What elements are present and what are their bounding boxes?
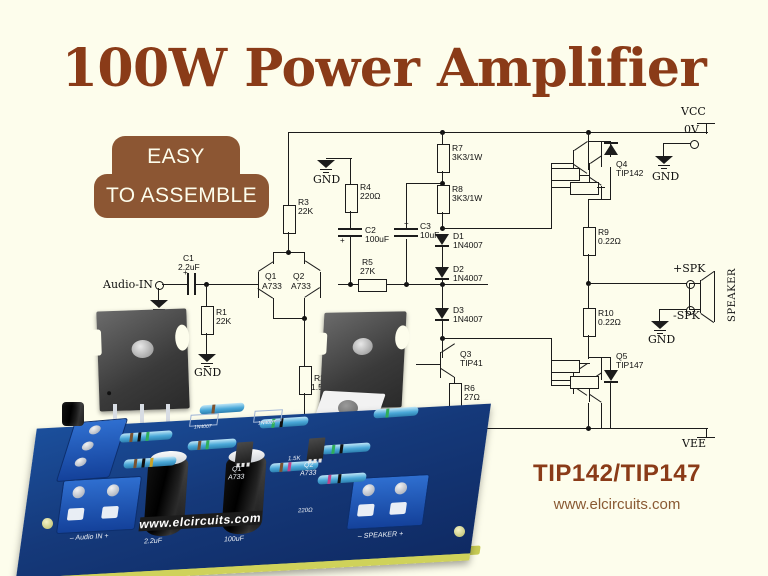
label-r7-value: 3K3/1W — [452, 153, 482, 163]
q5-diode-tie — [601, 357, 611, 358]
q5-diode-bot-wire — [610, 383, 611, 428]
terminal-spk-plus[interactable] — [686, 280, 695, 289]
pcb-silk-c2: 100uF — [223, 535, 244, 543]
q4-internal-resistor-2 — [570, 182, 599, 195]
wire-vcc-rail — [288, 132, 708, 133]
wire-output-to-spk — [588, 283, 689, 284]
q5b-emitter-lead — [589, 394, 601, 403]
wire-r10-bot — [588, 335, 589, 359]
q5-internal-resistor-2 — [570, 376, 599, 389]
q5-collector-tie — [588, 357, 602, 358]
wire-r4-top — [350, 158, 351, 184]
wire-q4-to-r9 — [588, 199, 589, 227]
wire-driver-base — [551, 163, 573, 164]
pcb-silk-q2-part: A733 — [299, 470, 316, 478]
pcb-silk-q1-part: A733 — [227, 474, 244, 482]
ground-bar-r4-2 — [320, 169, 332, 170]
wire-d1-d2 — [442, 247, 443, 267]
q5b-emitter-wire — [601, 403, 602, 428]
pcb-silk-c1: 2.2uF — [143, 538, 162, 546]
label-spk-minus: -SPK — [673, 310, 700, 322]
q2-emitter-wire — [304, 298, 305, 318]
ground-symbol-r4 — [317, 160, 335, 168]
label-r10-value: 0.22Ω — [598, 318, 621, 328]
label-q1-value: A733 — [262, 282, 282, 292]
resistor-r8 — [437, 185, 450, 214]
wire-r1-bot — [206, 333, 207, 354]
q2-collector-lead — [305, 260, 321, 271]
wire-r3-bot — [288, 232, 289, 252]
q4-collector-tie — [588, 141, 602, 142]
pcb-silk-q2: Q2 — [303, 462, 313, 470]
label-gnd-r1: GND — [194, 367, 221, 379]
ground-bar-spk-2 — [654, 330, 666, 331]
ground-symbol-spk — [651, 321, 669, 329]
label-d1-value: 1N4007 — [453, 241, 483, 251]
wire-d2-d3 — [442, 280, 443, 308]
poster-root: 100W Power Amplifier EASY TO ASSEMBLE VC… — [0, 0, 768, 576]
resistor-r9 — [583, 227, 596, 256]
pcb-mount-hole-right — [454, 526, 465, 537]
wire-q5-to-vee — [588, 403, 589, 428]
q4-diode-top-wire — [610, 141, 611, 157]
label-vee: VEE — [682, 438, 706, 450]
wire-output-to-r10 — [588, 283, 589, 308]
terminal-0v[interactable] — [690, 140, 699, 149]
resistor-r3 — [283, 205, 296, 234]
speaker-cone-bottom — [700, 313, 714, 323]
label-gnd-r4: GND — [313, 174, 340, 186]
q5b-collector-wire — [601, 357, 602, 380]
label-r9-value: 0.22Ω — [598, 237, 621, 247]
q3-emitter-lead — [440, 368, 454, 378]
label-r4-value: 220Ω — [360, 192, 381, 202]
transistor-right-notch-a — [316, 333, 327, 355]
wire-r2-top — [304, 318, 305, 366]
wire-spk-gnd — [659, 309, 687, 310]
resistor-r4 — [345, 184, 358, 213]
resistor-r7 — [437, 144, 450, 173]
q1-base-bar — [258, 272, 259, 298]
ground-symbol-audio — [150, 300, 168, 308]
wire-spk-gnd-down — [659, 309, 660, 321]
wire-r8-to-driver — [442, 228, 552, 229]
footer-website: www.elcircuits.com — [472, 496, 762, 513]
transistor-left-mount-hole — [131, 340, 154, 359]
capacitor-c3 — [394, 228, 418, 238]
q4-res2-right — [597, 187, 605, 188]
wire-c2-bot — [350, 237, 351, 284]
ground-bar-0v-2 — [658, 165, 670, 166]
label-c1-value: 2.2uF — [178, 263, 200, 273]
pcb-photo: – Audio IN + – SPEAKER + 2.2uF 100uF — [22, 398, 492, 576]
ground-bar-r1-2 — [201, 363, 213, 364]
capacitor-c1 — [187, 273, 196, 295]
q2-collector-wire — [304, 252, 305, 264]
q2-base-bar — [320, 272, 321, 298]
q5-res-tie — [551, 365, 552, 381]
transistor-package-left — [96, 308, 189, 411]
label-speaker: SPEAKER — [727, 268, 738, 322]
pcb-transistor-q1 — [235, 441, 254, 464]
label-d2-value: 1N4007 — [453, 274, 483, 284]
pcb-silk-q1: Q1 — [231, 466, 241, 474]
label-q2-value: A733 — [291, 282, 311, 292]
ground-symbol-0v — [655, 156, 673, 164]
q1-emitter-wire — [273, 298, 274, 318]
pcb-silk-d1-part: 1N4007 — [194, 424, 213, 431]
label-audio-in: Audio-IN — [103, 279, 153, 291]
q4-res-tie — [551, 173, 552, 188]
label-q4-value: TIP142 — [616, 169, 643, 179]
footer-part-numbers: TIP142/TIP147 — [472, 460, 762, 488]
q1-collector-wire — [273, 252, 274, 264]
label-q3-value: TIP41 — [460, 359, 483, 369]
resistor-r5 — [358, 279, 387, 292]
q3-base-wire — [416, 364, 441, 365]
speaker-box-left — [689, 284, 690, 309]
wire-audio-gnd — [158, 288, 159, 300]
label-d3-value: 1N4007 — [453, 315, 483, 325]
speaker-box-bottom — [689, 309, 701, 310]
resistor-r10 — [583, 308, 596, 337]
pcb-terminal-audio-in[interactable] — [56, 476, 142, 534]
wire-q1q2-bottom — [273, 318, 305, 319]
label-spk-plus: +SPK — [673, 263, 705, 275]
q4b-collector-wire — [601, 141, 602, 167]
wire-vcc-tick — [697, 123, 715, 124]
label-r8-value: 3K3/1W — [452, 194, 482, 204]
pcb-silk-r2: 1.5K — [288, 456, 301, 463]
wire-r1-top — [206, 284, 207, 306]
speaker-cone-right — [714, 271, 715, 322]
transistor-right-mount-hole — [352, 338, 373, 355]
q3-collector-wire — [442, 336, 443, 358]
resistor-r1 — [201, 306, 214, 335]
label-r1-value: 22K — [216, 317, 231, 327]
node-c2-out — [348, 282, 353, 287]
pcb-capacitor-small — [62, 402, 84, 426]
pcb-terminal-speaker[interactable] — [346, 474, 430, 530]
q5-internal-resistor-1 — [551, 360, 580, 373]
wire-gnd-r4 — [326, 158, 352, 159]
q5-res2-wire — [551, 380, 571, 381]
wire-c3-bot — [406, 239, 407, 285]
label-gnd-spk: GND — [648, 334, 675, 346]
q4-diode-bot-wire — [610, 167, 611, 200]
label-q5-value: TIP147 — [616, 361, 643, 371]
wire-r9-bot — [588, 254, 589, 283]
wire-0v-down — [663, 143, 664, 156]
c2-polarity-mark: + — [340, 236, 345, 245]
wire-0v — [663, 143, 691, 144]
label-vcc: VCC — [681, 106, 706, 118]
pcb-transistor-q2 — [307, 437, 326, 460]
q5-diode-top-wire — [610, 357, 611, 371]
label-c2-value: 100uF — [365, 235, 389, 245]
terminal-audio-in[interactable] — [155, 281, 164, 290]
transistor-left-notch-a — [91, 329, 102, 355]
transistor-left-dot — [107, 391, 111, 395]
wire-r3-top — [288, 132, 289, 205]
q4-internal-resistor-1 — [551, 168, 580, 181]
pcb-silk-r4: 220Ω — [298, 508, 313, 515]
q4a-collector-lead — [574, 141, 588, 151]
wire-r4-bot — [350, 211, 351, 228]
label-gnd-0v: GND — [652, 171, 679, 183]
label-r3-value: 22K — [298, 207, 313, 217]
q4-res2-wire — [551, 187, 571, 188]
wire-c3-top — [406, 183, 407, 228]
wire-d3-to-lower-driver — [442, 338, 552, 339]
pcb-silk-d2-part: 1N4007 — [258, 420, 277, 427]
transistor-left-notch-b — [175, 324, 190, 350]
speaker-box-top — [689, 283, 701, 284]
pcb-mount-hole-left — [42, 518, 53, 529]
q4-diode-tie-top — [601, 141, 611, 142]
wire-c1-left — [162, 284, 187, 285]
q4-emitter-join — [588, 199, 611, 200]
wire-r7-top — [442, 132, 443, 144]
label-0v: 0V — [684, 124, 699, 136]
pcb-resistor-i — [199, 402, 245, 414]
label-r5-value: 27K — [360, 267, 375, 277]
ground-symbol-r1 — [198, 354, 216, 362]
wire-vcc-stub — [706, 124, 707, 134]
